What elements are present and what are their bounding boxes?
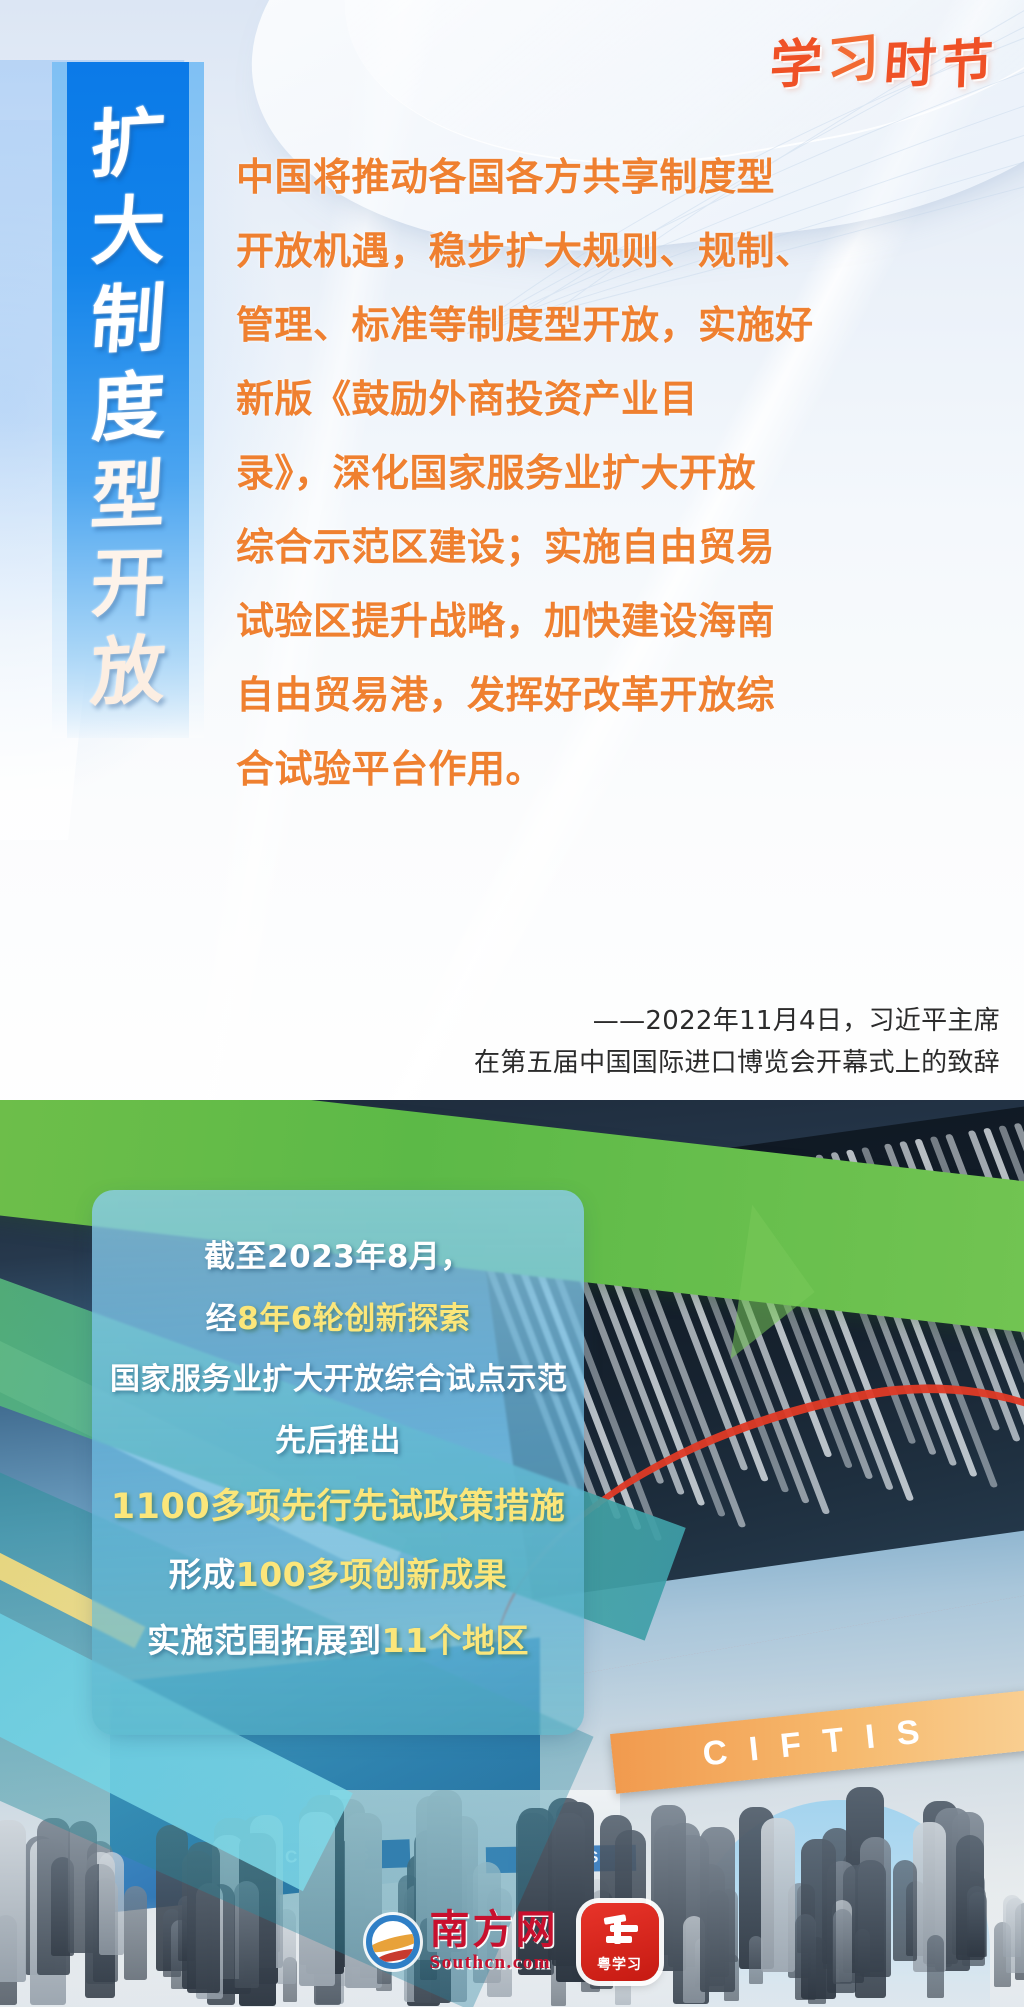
vertical-title-char-5: 型 [89, 451, 168, 542]
vertical-title-char-3: 制 [88, 275, 168, 366]
brand-logo-char-1: 学 [768, 33, 827, 98]
quote-line: 开放机遇，稳步扩大规则、规制、 [236, 214, 776, 288]
vertical-title-char-7: 放 [89, 626, 168, 718]
stat-card-line: 1100多项先行先试政策措施 [110, 1472, 566, 1542]
stat-text: 先后推出 [275, 1423, 401, 1459]
yuexuexi-label: 粤学习 [597, 1954, 642, 1974]
vertical-title-char-4: 度 [90, 362, 166, 454]
vertical-title-text: 扩 大 制 度 型 开 放 [67, 62, 189, 738]
stat-card-line: 实施范围拓展到11个地区 [110, 1608, 566, 1674]
stat-text: 经 [206, 1301, 238, 1337]
attribution-line-2: 在第五届中国国际进口博览会开幕式上的致辞 [380, 1042, 1000, 1084]
stat-text: 实施范围拓展到 [147, 1621, 382, 1660]
southcn-logo[interactable]: 南方网 Southcn.com [366, 1909, 559, 1975]
globe-icon [366, 1915, 420, 1969]
vertical-title-char-6: 开 [89, 539, 168, 628]
quote-line: 管理、标准等制度型开放，实施好 [236, 288, 776, 362]
attribution-block: ——2022年11月4日，习近平主席 在第五届中国国际进口博览会开幕式上的致辞 [380, 1000, 1000, 1084]
brand-logo: 学 习 时 节 [767, 34, 1000, 96]
southcn-name-en: Southcn.com [430, 1951, 552, 1975]
footer-logos: 南方网 Southcn.com 粤学习 [0, 1903, 1024, 1981]
yuexuexi-app-icon[interactable]: 粤学习 [581, 1903, 659, 1981]
quote-line: 综合示范区建设；实施自由贸易 [236, 510, 776, 584]
quote-line: 合试验平台作用。 [236, 732, 776, 806]
brand-logo-char-2: 习 [826, 26, 882, 94]
brand-logo-char-4: 节 [940, 32, 997, 98]
stat-highlight: 1100多项先行先试政策措施 [111, 1487, 565, 1527]
vertical-title-char-2: 大 [89, 187, 166, 276]
stat-card-line: 国家服务业扩大开放综合试点示范 [110, 1350, 566, 1410]
stat-highlight: 轮创新探索 [313, 1301, 471, 1337]
stat-card-line: 形成100多项创新成果 [110, 1542, 566, 1608]
stat-text: 截至2023年8月， [204, 1239, 472, 1275]
stat-highlight: 100多项创新成果 [236, 1555, 507, 1594]
stat-highlight: 年 [259, 1301, 291, 1337]
southcn-logo-text: 南方网 Southcn.com [430, 1909, 559, 1975]
poster-root: 学 习 时 节 扩 大 制 度 型 开 放 中国将推动各国各方共享制度型 开放机… [0, 0, 1024, 2007]
quote-block: 中国将推动各国各方共享制度型 开放机遇，稳步扩大规则、规制、 管理、标准等制度型… [236, 140, 776, 806]
stat-highlight: 11个地区 [382, 1621, 529, 1660]
vertical-title-band: 扩 大 制 度 型 开 放 [52, 62, 204, 738]
stat-card-line: 截至2023年8月， [110, 1226, 566, 1288]
yuexuexi-glyph-icon [600, 1914, 640, 1954]
southcn-name-cn: 南方网 [430, 1909, 559, 1951]
attribution-line-1: ——2022年11月4日，习近平主席 [380, 1000, 1000, 1042]
quote-line: 新版《鼓励外商投资产业目 [236, 362, 776, 436]
stat-card-line: 先后推出 [110, 1410, 566, 1472]
quote-line: 中国将推动各国各方共享制度型 [236, 140, 776, 214]
stat-card: 截至2023年8月，经8年6轮创新探索国家服务业扩大开放综合试点示范先后推出11… [92, 1190, 584, 1735]
stat-highlight: 6 [291, 1301, 313, 1337]
quote-line: 自由贸易港，发挥好改革开放综 [236, 658, 776, 732]
quote-line: 试验区提升战略，加快建设海南 [236, 584, 776, 658]
stat-text: 国家服务业扩大开放综合试点示范 [110, 1362, 568, 1397]
stat-highlight: 8 [237, 1301, 259, 1337]
stat-card-line: 经8年6轮创新探索 [110, 1288, 566, 1350]
vertical-title-char-1: 扩 [89, 98, 166, 190]
quote-line: 录》，深化国家服务业扩大开放 [236, 436, 776, 510]
brand-logo-char-3: 时 [882, 33, 942, 97]
stat-text: 形成 [169, 1555, 236, 1594]
